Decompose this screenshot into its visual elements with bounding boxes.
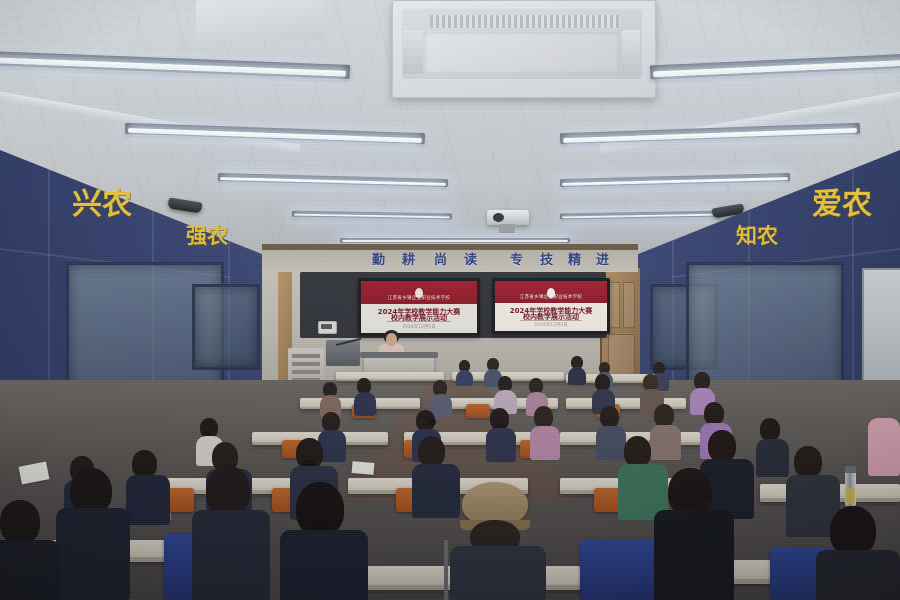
bottle-cap bbox=[845, 466, 856, 473]
door-panel-upper2 bbox=[623, 282, 635, 328]
ac-filter-panel bbox=[424, 32, 620, 74]
wall-banner bbox=[262, 250, 638, 272]
slide-divider-right bbox=[520, 320, 583, 321]
handout-sheet-2[interactable] bbox=[352, 461, 375, 475]
presenter-head bbox=[386, 333, 397, 346]
banner-char-7: 精 bbox=[568, 250, 581, 272]
slide-title-line2-right: 校内教学展示活动 bbox=[495, 312, 607, 322]
slide-institution-left: 江苏省乡镇企业职业技术学校 bbox=[388, 295, 450, 301]
banner-char-1: 勤 bbox=[372, 250, 385, 272]
ac-vane-left bbox=[403, 30, 423, 74]
banner-char-5: 专 bbox=[510, 250, 523, 272]
banner-char-8: 进 bbox=[596, 250, 609, 272]
slide-right: 江苏省乡镇企业职业技术学校 2024年学校教学能力大赛 校内教学展示活动 202… bbox=[495, 281, 607, 331]
banner-char-6: 技 bbox=[540, 250, 553, 272]
projector-bracket bbox=[499, 224, 515, 233]
display-case-left-small bbox=[192, 284, 260, 370]
classroom-photo-scene: 兴农 强农 知农 爱农 勤 耕 尚 读 专 技 精 进 江苏省乡镇企业职业技术学… bbox=[0, 0, 900, 600]
ac-grille bbox=[430, 15, 620, 28]
projection-screen-right: 江苏省乡镇企业职业技术学校 2024年学校教学能力大赛 校内教学展示活动 202… bbox=[492, 278, 610, 334]
slide-left: 江苏省乡镇企业职业技术学校 2024年学校教学能力大赛 校内教学展示活动 202… bbox=[361, 281, 477, 333]
slide-divider-left bbox=[387, 321, 452, 322]
left-wall-slogan-far: 强农 bbox=[186, 226, 228, 247]
projection-screen-left: 江苏省乡镇企业职业技术学校 2024年学校教学能力大赛 校内教学展示活动 202… bbox=[358, 278, 480, 336]
desk-row1-left bbox=[336, 372, 444, 381]
speaker-pole-left bbox=[182, 178, 185, 202]
display-case-right-large bbox=[686, 262, 844, 396]
right-wall-slogan-far: 知农 bbox=[736, 226, 778, 247]
projector-lens bbox=[493, 213, 504, 222]
ac-vane-right bbox=[622, 30, 640, 74]
slide-date-left: 2024年12月5日 bbox=[361, 324, 477, 330]
ceiling-light-9 bbox=[340, 238, 570, 243]
control-panel-display bbox=[321, 324, 332, 329]
banner-char-3: 尚 bbox=[434, 250, 447, 272]
slide-institution-right: 江苏省乡镇企业职业技术学校 bbox=[520, 294, 582, 300]
left-wall-slogan-near: 兴农 bbox=[72, 190, 132, 220]
door-panel-lower bbox=[608, 334, 635, 376]
banner-char-4: 读 bbox=[464, 250, 477, 272]
ceiling-ac-unit-secondary bbox=[196, 0, 324, 40]
chair-frame-2 bbox=[444, 540, 448, 600]
banner-char-2: 耕 bbox=[402, 250, 415, 272]
lectern-top-surface bbox=[360, 352, 438, 358]
chair-r2-2[interactable] bbox=[466, 404, 490, 418]
slide-date-right: 2024年12月5日 bbox=[495, 322, 607, 328]
right-wall-slogan-near: 爱农 bbox=[812, 190, 872, 220]
bottle-contents bbox=[846, 488, 855, 504]
